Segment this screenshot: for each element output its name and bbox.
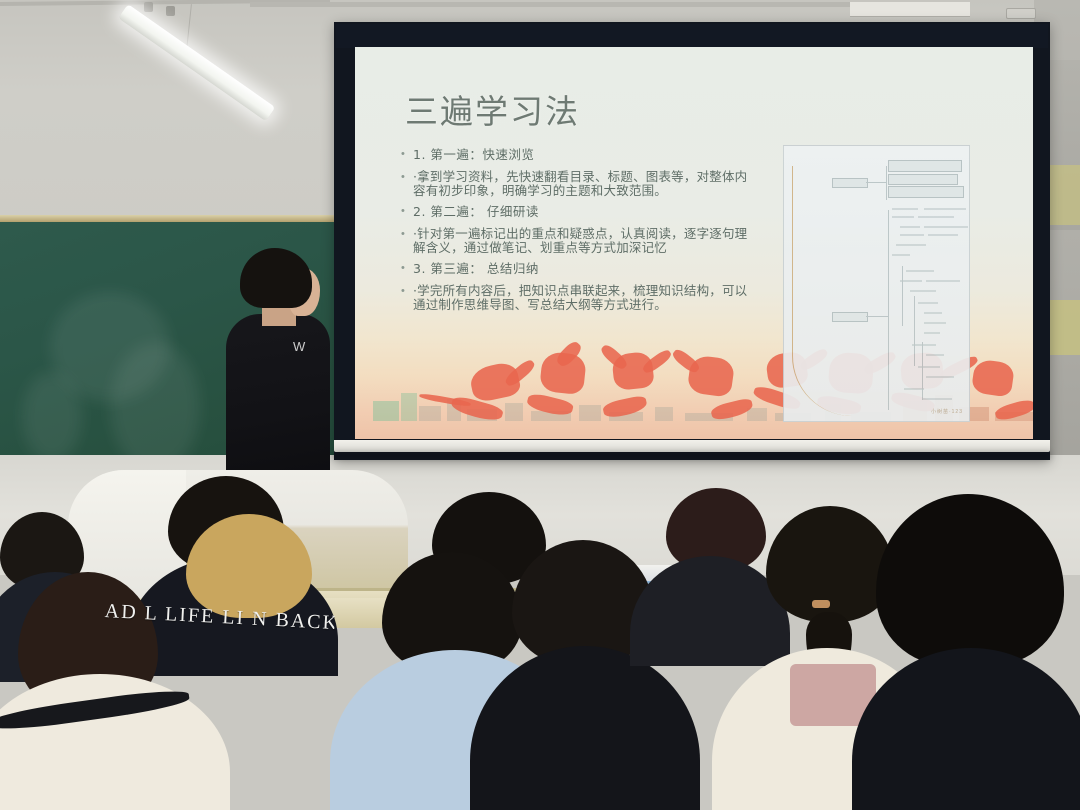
bullet-text: 3. 第三遍： 总结归纳 [413,261,539,277]
right-wall-panel-lower [1046,300,1080,355]
bullet-text: ·针对第一遍标记出的重点和疑惑点，认真阅读，逐字逐句理解含义，通过做笔记、划重点… [413,227,751,254]
right-wall-panel-upper [1046,165,1080,225]
bullet-dot-icon: • [401,147,413,163]
lamp-bracket-a [144,2,153,12]
projection-screen-top-band [336,24,1048,48]
mindmap-node [832,312,868,322]
ceiling-track-box [850,2,970,17]
bullet-text: 2. 第二遍： 仔细研读 [413,204,539,220]
bullet-item: • 3. 第三遍： 总结归纳 [401,261,751,277]
slide-bullet-list: • 1. 第一遍：快速浏览 • ·拿到学习资料，先快速翻看目录、标题、图表等，对… [401,147,751,318]
bullet-dot-icon: • [401,261,413,277]
bullet-dot-icon: • [401,170,413,197]
white-puffer-jacket [0,674,230,810]
presenter-torso [226,314,330,490]
bullet-item: • ·拿到学习资料，先快速翻看目录、标题、图表等，对整体内容有初步印象，明确学习… [401,170,751,197]
mindmap-node [888,174,958,185]
lamp-bracket-b [166,6,175,16]
slide-title: 三遍学习法 [405,85,580,133]
mindmap-node [832,178,868,188]
ceiling-sensor [1006,8,1036,19]
presentation-slide: 三遍学习法 • 1. 第一遍：快速浏览 • ·拿到学习资料，先快速翻看目录、标题… [355,47,1033,439]
mindmap-node [888,186,964,198]
projection-screen-shadow [334,452,1050,459]
mindmap-thumbnail-image: 小树苗·123 [783,145,970,422]
mindmap-watermark: 小树苗·123 [931,408,963,415]
bullet-item: • 1. 第一遍：快速浏览 [401,147,751,163]
bullet-dot-icon: • [401,227,413,254]
hair-tie [812,600,830,608]
chalk-smudge-c [22,372,82,462]
bullet-text: ·学完所有内容后，把知识点串联起来，梳理知识结构，可以通过制作思维导图、写总结大… [413,284,751,311]
bullet-text: 1. 第一遍：快速浏览 [413,147,534,163]
bullet-text: ·拿到学习资料，先快速翻看目录、标题、图表等，对整体内容有初步印象，明确学习的主… [413,170,751,197]
bullet-dot-icon: • [401,204,413,220]
mindmap-link [888,210,889,410]
mindmap-node [888,160,962,172]
bullet-dot-icon: • [401,284,413,311]
mindmap-link [866,182,886,183]
fluorescent-ceiling-lamp [128,4,318,89]
mindmap-link [886,166,887,200]
mindmap-root-branch [792,166,863,416]
bullet-item: • ·针对第一遍标记出的重点和疑惑点，认真阅读，逐字逐句理解含义，通过做笔记、划… [401,227,751,254]
bullet-item: • 2. 第二遍： 仔细研读 [401,204,751,220]
bullet-item: • ·学完所有内容后，把知识点串联起来，梳理知识结构，可以通过制作思维导图、写总… [401,284,751,311]
mindmap-link [866,316,888,317]
classroom-photo-scene: 三遍学习法 • 1. 第一遍：快速浏览 • ·拿到学习资料，先快速翻看目录、标题… [0,0,1080,810]
chalk-smudge-b [110,342,200,472]
presenter-chest-logo: W [293,340,313,370]
projection-screen-bottom-bar [334,440,1050,452]
